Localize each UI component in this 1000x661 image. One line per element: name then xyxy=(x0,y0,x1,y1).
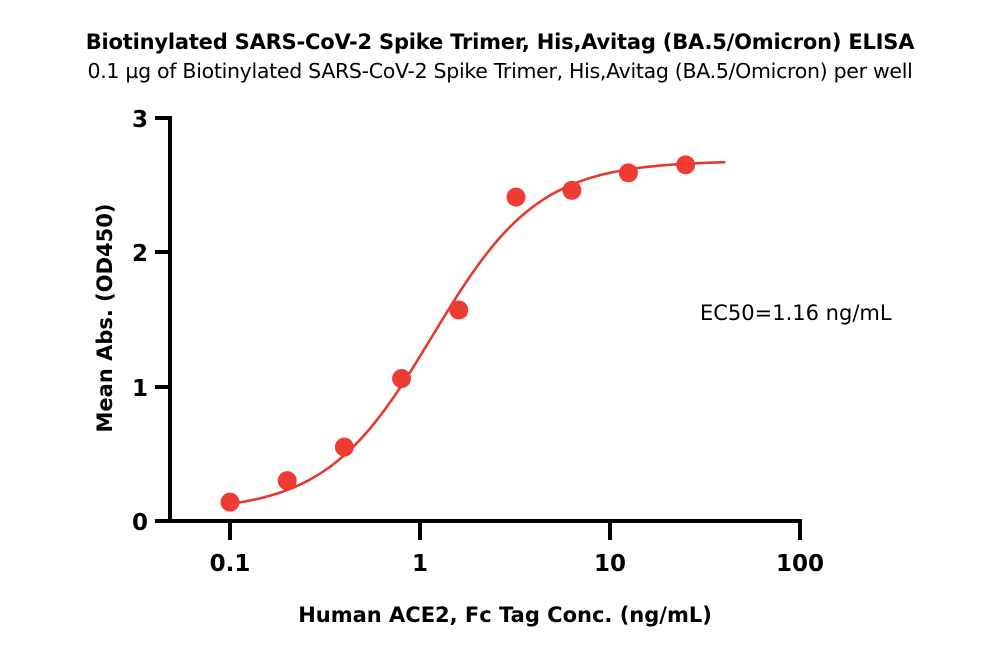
y-tick-label-3: 3 xyxy=(132,107,148,133)
x-tick-label-100: 100 xyxy=(776,551,824,577)
data-point xyxy=(619,163,638,182)
data-point xyxy=(676,155,695,174)
data-point xyxy=(392,369,411,388)
y-axis-title: Mean Abs. (OD450) xyxy=(93,204,117,433)
plot-area: 3 2 1 0 0.1 1 10 100 Human ACE2, Fc Tag … xyxy=(0,0,1000,661)
data-point xyxy=(221,493,240,512)
data-point xyxy=(278,471,297,490)
ec50-annotation: EC50=1.16 ng/mL xyxy=(700,301,892,325)
y-axis-tick-labels: 3 2 1 0 xyxy=(132,107,148,536)
x-axis-tick-labels: 0.1 1 10 100 xyxy=(210,551,824,577)
chart-figure: Biotinylated SARS-CoV-2 Spike Trimer, Hi… xyxy=(0,0,1000,661)
x-axis-title: Human ACE2, Fc Tag Conc. (ng/mL) xyxy=(298,603,712,627)
data-point-group xyxy=(221,155,696,511)
fit-curve xyxy=(226,162,724,504)
x-axis-ticks xyxy=(230,521,800,540)
y-tick-label-2: 2 xyxy=(132,241,148,267)
x-tick-label-0.1: 0.1 xyxy=(210,551,251,577)
y-tick-label-1: 1 xyxy=(132,376,148,402)
x-tick-label-1: 1 xyxy=(412,551,428,577)
data-point xyxy=(562,181,581,200)
data-point xyxy=(335,438,354,457)
x-tick-label-10: 10 xyxy=(594,551,626,577)
y-axis-ticks xyxy=(155,118,170,521)
data-point xyxy=(449,300,468,319)
y-tick-label-0: 0 xyxy=(132,510,148,536)
data-point xyxy=(506,188,525,207)
